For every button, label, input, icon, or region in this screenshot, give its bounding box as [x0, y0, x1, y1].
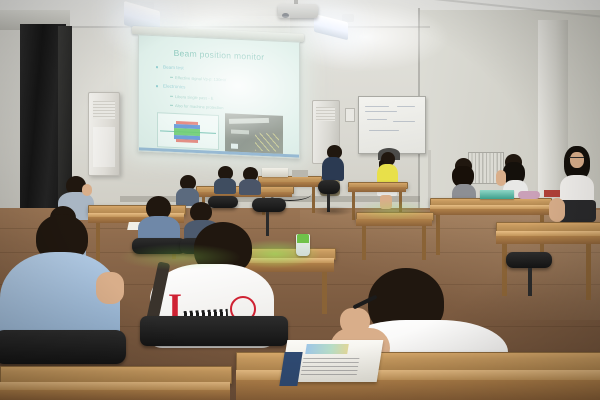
whiteboard-writing-2 [365, 111, 397, 112]
photo-cable-detail [255, 133, 279, 152]
attendee-mid-body-1 [214, 178, 236, 194]
right-row-chair-leg [528, 268, 532, 296]
photo-highlight-2 [231, 130, 249, 135]
bullet-dash-2 [170, 77, 173, 78]
attendee-yellow-desk-leg [352, 192, 355, 220]
whiteboard-writing-4 [367, 119, 387, 120]
attendee-yellow-desk-front [348, 187, 406, 192]
whiteboard-writing-3 [397, 106, 415, 107]
right-row-desk-1-apron [430, 209, 550, 215]
left-row-desk-1-leg [96, 223, 100, 261]
booklet-text-lines [301, 358, 360, 376]
slide-bullet-2: Effective signal Vp-p: 130mV [175, 75, 226, 82]
slide-bullet-3: Electronics [163, 83, 185, 89]
attendee-yellow-legs [380, 195, 392, 209]
attendee-l3-chair [132, 238, 186, 254]
mid-row-chair-leg [266, 212, 269, 236]
right-row-desk-2-leg [502, 244, 507, 296]
foreground-desk-left-edge [0, 382, 230, 390]
attendee-tshirt-chair [140, 316, 288, 346]
presenter-chair-leg [327, 194, 330, 212]
books-on-desk [480, 190, 514, 199]
slide-beam-position-plot [157, 112, 219, 150]
mid-row-chair-1 [208, 196, 238, 208]
foreground-desk-left-apron [0, 390, 230, 400]
back-desk-right-leg2 [422, 226, 426, 260]
attendee-l1-hand [82, 184, 92, 196]
right-row-desk-2-apron [496, 236, 600, 244]
attendee-front-right-hand [340, 308, 370, 334]
right-row-desk-1-leg-l [436, 215, 440, 255]
slide-bullet-1: Beam test [163, 64, 184, 70]
presenter-chair [318, 180, 340, 194]
ac-grille-right [316, 107, 335, 121]
whiteboard [358, 96, 426, 154]
attendee-front-left-arm [96, 272, 124, 304]
slide-title: Beam position monitor [139, 46, 299, 63]
attendee-r3-glasses [569, 157, 584, 161]
projection-screen: Beam position monitor Beam test Effectiv… [138, 34, 300, 158]
photo-highlight-1 [229, 118, 269, 124]
bullet-dot-1 [156, 66, 158, 68]
slide-bullet-5: Also for machine protection [175, 103, 223, 110]
whiteboard-writing-5 [393, 121, 415, 122]
mid-row-chair-2 [252, 198, 286, 212]
right-row-desk-2-leg2 [586, 244, 591, 300]
lecture-room-photo: Beam position monitor Beam test Effectiv… [0, 0, 600, 400]
plot-band-red-bottom [176, 139, 198, 143]
wall-switch-panel [345, 108, 355, 122]
back-desk-right-apron [356, 219, 432, 226]
cup-desk-leg-r [322, 272, 327, 314]
whiteboard-writing-6 [369, 130, 399, 131]
papers-stack [262, 168, 288, 177]
photo-label-box [231, 144, 238, 149]
attendee-front-left-chair [0, 330, 126, 364]
slide-bullet-4: Libera single pass - E [175, 94, 213, 101]
air-conditioner-left [88, 92, 120, 176]
attendee-r2-arm [496, 170, 506, 186]
whiteboard-writing-1 [365, 106, 389, 107]
attendee-l4-head [190, 202, 212, 222]
bullet-dash-4 [170, 96, 173, 97]
back-desk-right-leg [362, 226, 366, 260]
slide-equipment-photo [225, 113, 283, 154]
booklet-figure [305, 344, 349, 354]
ac-grille-left [93, 101, 115, 119]
desk-equipment [292, 170, 308, 177]
attendee-r3-arm [549, 198, 565, 222]
ac-panel-left [93, 127, 115, 167]
pencil-case [518, 191, 540, 199]
right-row-chair [506, 252, 552, 268]
attendee-mid-body-2 [239, 179, 261, 195]
presenter-desk-leg-r [312, 187, 315, 213]
bullet-dash-5 [170, 105, 173, 106]
drink-cup-contents [297, 234, 309, 243]
bullet-dot-3 [156, 85, 158, 87]
presenter-body [322, 157, 344, 181]
